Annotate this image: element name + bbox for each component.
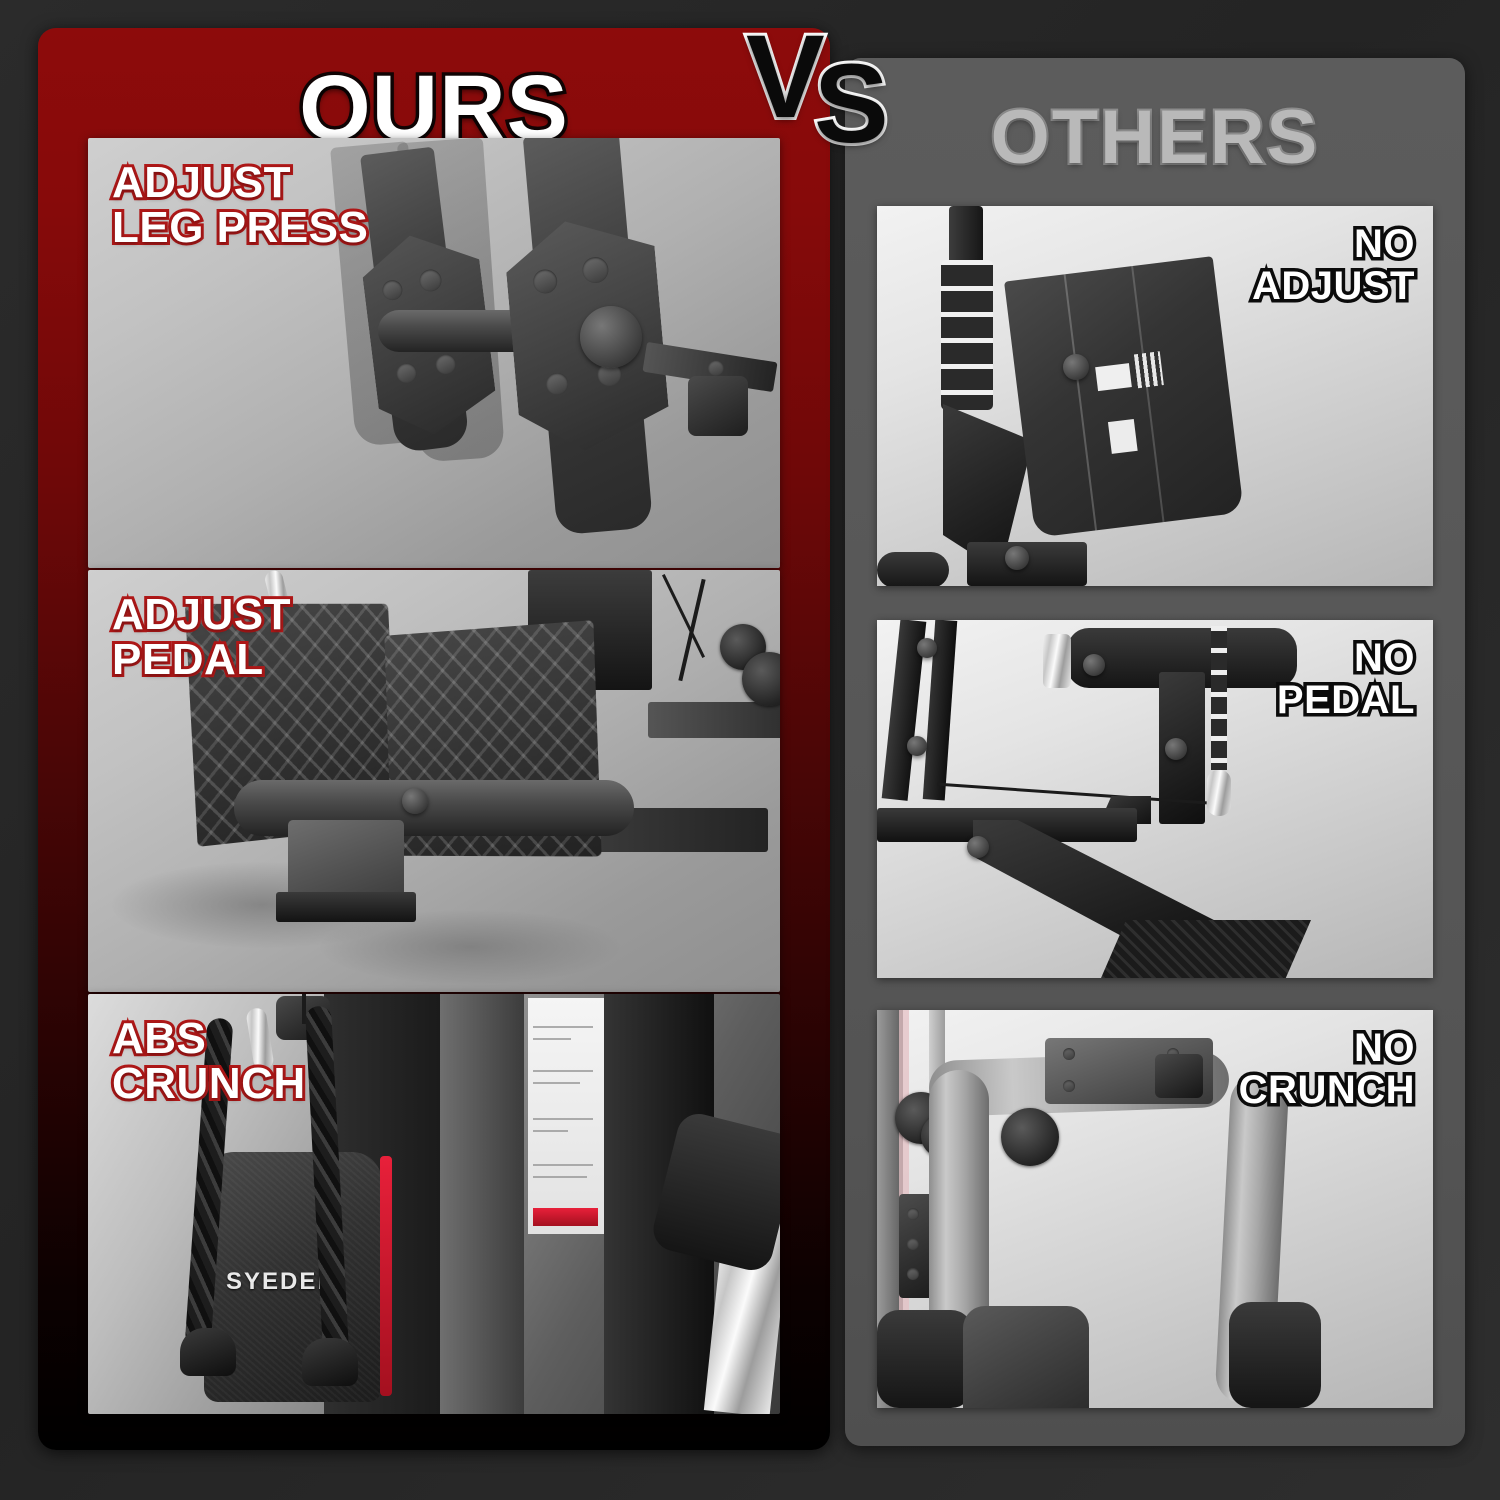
no-crunch-pulley-wheel [1001,1108,1059,1166]
no-adjust-bolt [1063,354,1089,380]
no-pedal-joint-bolt [967,836,989,858]
pedal-roller-bolt [402,788,428,814]
no-crunch-seat-back [963,1306,1089,1408]
crunch-red-accent [380,1156,392,1396]
ours-feature-card-abs-crunch: SYEDEE ABS CRUNCH [88,994,780,1414]
no-adjust-foam [877,552,949,586]
ours-panel: OURS [38,28,830,1450]
comparison-infographic: OURS [0,0,1500,1500]
caption-line-1: ADJUST [112,590,291,639]
no-crunch-hub [1155,1054,1203,1098]
caption-line-1: ADJUST [112,158,291,207]
pedal-adjust-foot [276,892,416,922]
caption-line-2: ADJUST [1252,264,1415,308]
leg-press-adjust-knob [580,306,642,368]
crunch-weight-column [440,994,524,1414]
no-pedal-chrome-collar [1043,634,1071,688]
others-caption-no-crunch: NO CRUNCH [1239,1028,1415,1111]
no-adjust-fixed-plate [1004,256,1244,538]
caption-line-2: PEDAL [112,635,264,684]
crunch-instruction-sticker [528,998,604,1234]
no-adjust-chain [941,260,993,410]
no-adjust-base-bolt [1005,546,1029,570]
pedal-frame-rail [648,702,780,738]
ours-caption-pedal: ADJUST PEDAL [112,592,291,683]
others-caption-no-pedal: NO PEDAL [1277,638,1415,721]
others-panel: OTHERS NO ADJUST [845,58,1465,1446]
leg-press-bracket [688,376,748,436]
no-pedal-snap-hook [1207,770,1231,816]
no-crunch-foam-right [1229,1302,1321,1408]
ours-feature-card-leg-press: ADJUST LEG PRESS [88,138,780,568]
no-pedal-chain [1211,626,1227,770]
others-feature-card-no-pedal: NO PEDAL [877,620,1433,978]
ours-caption-abs-crunch: ABS CRUNCH [112,1016,306,1107]
no-pedal-bolt-a [917,638,937,658]
no-crunch-foam-left [877,1310,973,1408]
caption-line-2: CRUNCH [1239,1068,1415,1112]
caption-line-2: CRUNCH [112,1059,306,1108]
caption-line-1: NO [1354,222,1415,266]
vs-badge: V S [742,18,942,148]
crunch-rope-cap-right [302,1338,358,1386]
others-feature-card-no-adjust: NO ADJUST [877,206,1433,586]
no-pedal-bolt-b [907,736,927,756]
caption-line-2: LEG PRESS [112,203,368,252]
leg-press-pin-hole [708,360,724,376]
caption-line-1: NO [1354,1026,1415,1070]
no-pedal-roller-bolt [1083,654,1105,676]
vs-letter-s: S [814,48,889,160]
caption-line-1: ABS [112,1014,206,1063]
ours-caption-leg-press: ADJUST LEG PRESS [112,160,368,251]
caption-line-1: NO [1354,636,1415,680]
crunch-rope-cap-left [180,1328,236,1376]
others-caption-no-adjust: NO ADJUST [1252,224,1415,307]
ours-feature-card-pedal: ADJUST PEDAL [88,570,780,992]
no-pedal-arm-bolt [1165,738,1187,760]
others-feature-card-no-crunch: NO CRUNCH [877,1010,1433,1408]
caption-line-2: PEDAL [1277,678,1415,722]
vs-letter-v: V [746,18,825,136]
no-pedal-floor-plate [1101,920,1311,978]
